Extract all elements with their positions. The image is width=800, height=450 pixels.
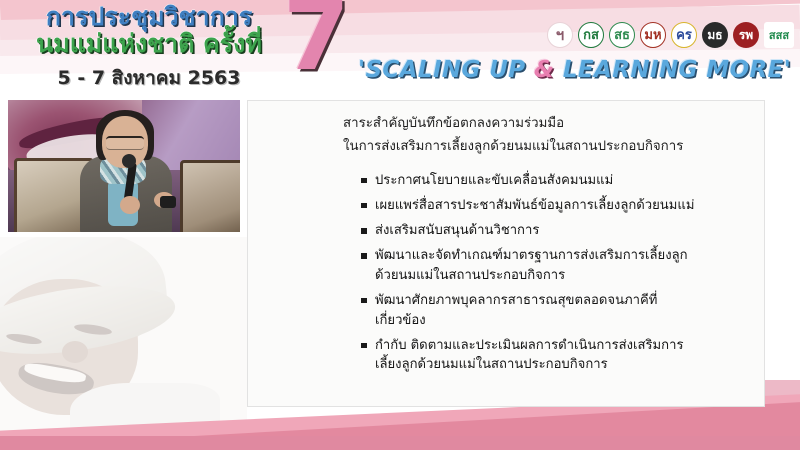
conference-tagline: 'SCALING UP & LEARNING MORE' <box>358 57 791 83</box>
conference-title-block: การประชุมวิชาการ นมแม่แห่งชาติ ครั้งที่ … <box>14 4 284 92</box>
bullet-item-5-line-1: พัฒนาศักยภาพบุคลากรสาธารณสุขตลอดจนภาคีที… <box>375 293 657 308</box>
tagline-part-2: LEARNING MORE' <box>554 57 791 83</box>
bullet-item-6: กำกับ ติดตามและประเมินผลการดำเนินการส่งเ… <box>361 336 746 375</box>
logo-black-circle-icon: มธ <box>702 22 728 48</box>
content-heading-line-2: ในการส่งเสริมการเลี้ยงลูกด้วยนมแม่ในสถาน… <box>343 136 764 159</box>
bullet-item-5-line-2: เกี่ยวข้อง <box>375 311 746 331</box>
logo-garuda-blue-icon: คร <box>671 22 697 48</box>
bullet-item-6-line-1: กำกับ ติดตามและประเมินผลการดำเนินการส่งเ… <box>375 338 684 353</box>
microphone-head-icon <box>122 154 136 168</box>
tagline-part-1: 'SCALING UP <box>358 57 534 83</box>
logo-health-dept-green-icon: กส <box>578 22 604 48</box>
edition-number-7: 7 <box>283 0 350 84</box>
content-bullet-list: ประกาศนโยบายและขับเคลื่อนสังคมนมแม่ เผยแ… <box>248 171 764 375</box>
bullet-item-3: ส่งเสริมสนับสนุนด้านวิชาการ <box>361 221 746 241</box>
speaker-hand-left <box>120 196 140 214</box>
logo-thaihealth-sss-icon: สสส <box>764 22 794 48</box>
presentation-slide: การประชุมวิชาการ นมแม่แห่งชาติ ครั้งที่ … <box>0 0 800 450</box>
bullet-item-4: พัฒนาและจัดทำเกณฑ์มาตรฐานการส่งเสริมการเ… <box>361 246 746 285</box>
conference-title-line-2: นมแม่แห่งชาติ ครั้งที่ <box>14 31 284 57</box>
speaker-photo <box>8 100 240 232</box>
bullet-item-5: พัฒนาศักยภาพบุคลากรสาธารณสุขตลอดจนภาคีที… <box>361 291 746 330</box>
armchair-right <box>180 160 240 232</box>
conference-title-line-1: การประชุมวิชาการ <box>14 4 284 30</box>
child-watermark-photo <box>0 237 247 435</box>
logo-royal-emblem-icon: ฯ <box>547 22 573 48</box>
logo-ministry-public-health-icon: สธ <box>609 22 635 48</box>
conference-date: 5 - 7 สิงหาคม 2563 <box>14 63 284 93</box>
presenter-remote <box>160 196 176 208</box>
logo-dark-red-crest-icon: รพ <box>733 22 759 48</box>
content-heading-line-1: สาระสำคัญบันทึกข้อตกลงความร่วมมือ <box>343 113 764 136</box>
bullet-item-2: เผยแพร่สื่อสารประชาสัมพันธ์ข้อมูลการเลี้… <box>361 196 746 216</box>
logo-red-seal-icon: มห <box>640 22 666 48</box>
bullet-item-1: ประกาศนโยบายและขับเคลื่อนสังคมนมแม่ <box>361 171 746 191</box>
bullet-item-1-line-1: ประกาศนโยบายและขับเคลื่อนสังคมนมแม่ <box>375 173 613 188</box>
bullet-item-3-line-1: ส่งเสริมสนับสนุนด้านวิชาการ <box>375 223 539 238</box>
child-nose <box>62 341 88 363</box>
bullet-item-4-line-1: พัฒนาและจัดทำเกณฑ์มาตรฐานการส่งเสริมการเ… <box>375 248 688 263</box>
organizer-logo-row: ฯ กส สธ มห คร มธ รพ สสส <box>547 22 794 48</box>
bullet-item-6-line-2: เลี้ยงลูกด้วยนมแม่ในสถานประกอบกิจการ <box>375 355 746 375</box>
content-heading: สาระสำคัญบันทึกข้อตกลงความร่วมมือ ในการส… <box>343 113 764 159</box>
speaker-eyeglasses <box>106 136 144 150</box>
tagline-ampersand: & <box>534 57 554 83</box>
bullet-item-4-line-2: ด้วยนมแม่ในสถานประกอบกิจการ <box>375 266 746 286</box>
bullet-item-2-line-1: เผยแพร่สื่อสารประชาสัมพันธ์ข้อมูลการเลี้… <box>375 198 694 213</box>
slide-header-banner: การประชุมวิชาการ นมแม่แห่งชาติ ครั้งที่ … <box>0 0 800 92</box>
ribbon-base-strip <box>0 436 800 450</box>
content-panel: สาระสำคัญบันทึกข้อตกลงความร่วมมือ ในการส… <box>247 100 765 407</box>
